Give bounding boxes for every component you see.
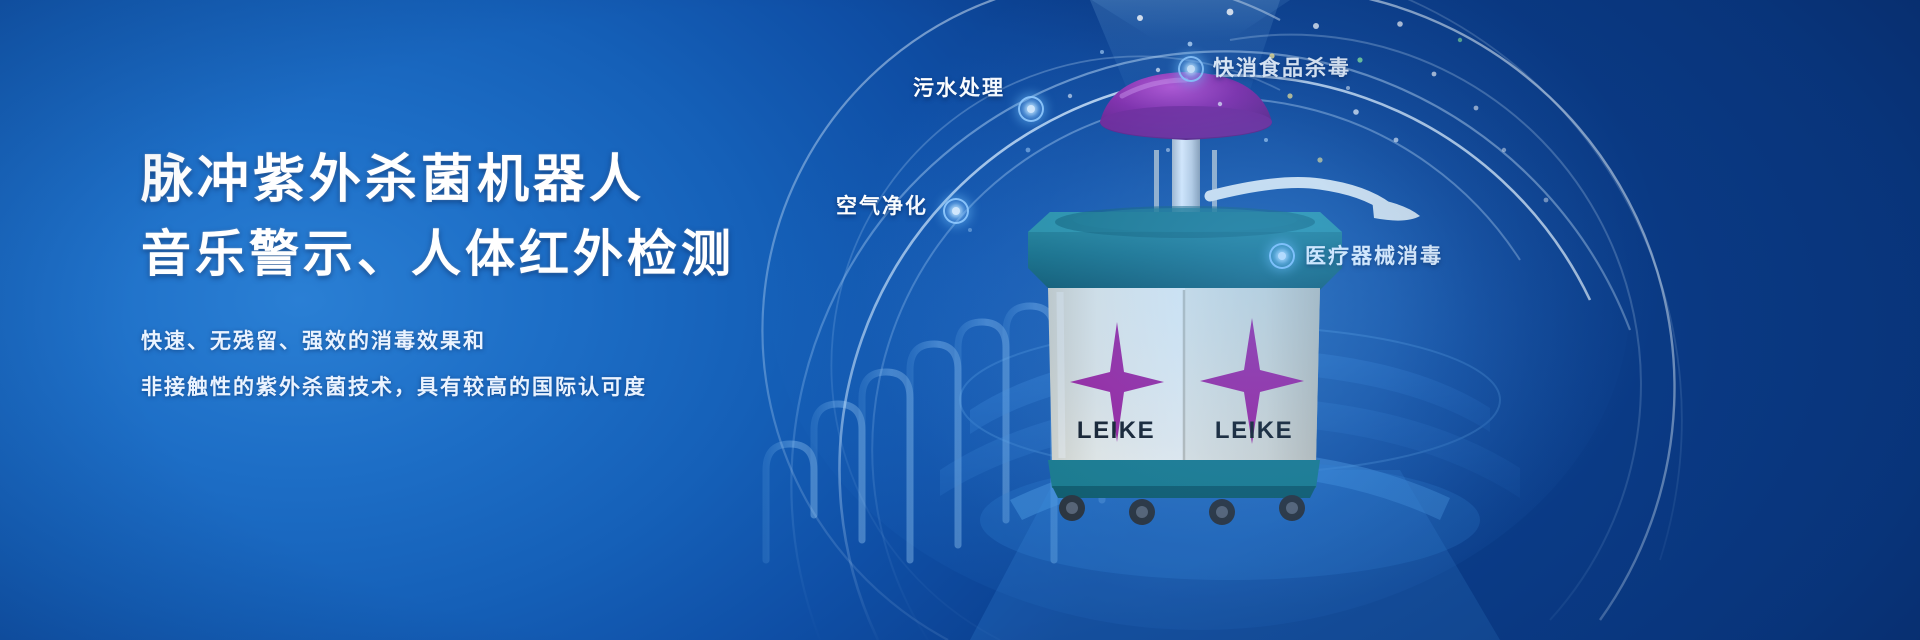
feature-label-food[interactable]: 快消食品杀毒: [1213, 52, 1351, 82]
hero-subtitle-group: 快速、无残留、强效的消毒效果和 非接触性的紫外杀菌技术，具有较高的国际认可度: [141, 318, 901, 410]
feature-label-sewage[interactable]: 污水处理: [913, 72, 1005, 102]
hero-subtitle-line1: 快速、无残留、强效的消毒效果和: [141, 318, 901, 364]
hero-subtitle-line2: 非接触性的紫外杀菌技术，具有较高的国际认可度: [141, 364, 901, 410]
product-illustration: LEIKE LEIKE: [760, 0, 1920, 640]
hero-title-line2: 音乐警示、人体红外检测: [141, 224, 901, 284]
feature-label-medical[interactable]: 医疗器械消毒: [1305, 240, 1443, 270]
hero-title-line1: 脉冲紫外杀菌机器人: [141, 150, 901, 212]
feature-node-sewage[interactable]: [1018, 96, 1044, 122]
feature-node-food[interactable]: [1178, 56, 1204, 82]
feature-node-medical[interactable]: [1269, 243, 1295, 269]
brand-right: LEIKE: [1215, 417, 1293, 444]
hero-copy: 脉冲紫外杀菌机器人 音乐警示、人体红外检测 快速、无残留、强效的消毒效果和 非接…: [141, 150, 901, 410]
brand-left: LEIKE: [1077, 417, 1155, 444]
hero-banner: LEIKE LEIKE: [0, 0, 1920, 640]
feature-node-air[interactable]: [943, 198, 969, 224]
